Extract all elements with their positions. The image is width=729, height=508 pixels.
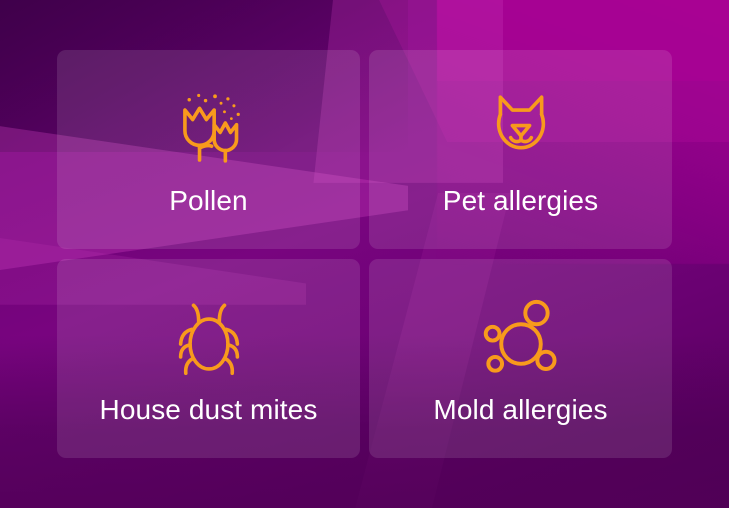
allergy-card-mold-allergies[interactable]: Mold allergies [369,259,672,458]
allergy-card-label: House dust mites [57,392,360,428]
allergy-card-house-dust-mites[interactable]: House dust mites [57,259,360,458]
tulip-flowers-icon [166,86,252,172]
allergy-category-screen: Pollen Pet allergies [0,0,729,508]
allergy-card-label: Pet allergies [369,183,672,219]
dust-mite-bug-icon [166,295,252,381]
allergy-card-pollen[interactable]: Pollen [57,50,360,249]
allergy-card-label: Mold allergies [369,392,672,428]
cat-face-icon [478,86,564,172]
allergy-card-pet-allergies[interactable]: Pet allergies [369,50,672,249]
allergy-card-grid: Pollen Pet allergies [57,50,672,458]
allergy-card-label: Pollen [57,183,360,219]
mold-spores-icon [478,295,564,381]
